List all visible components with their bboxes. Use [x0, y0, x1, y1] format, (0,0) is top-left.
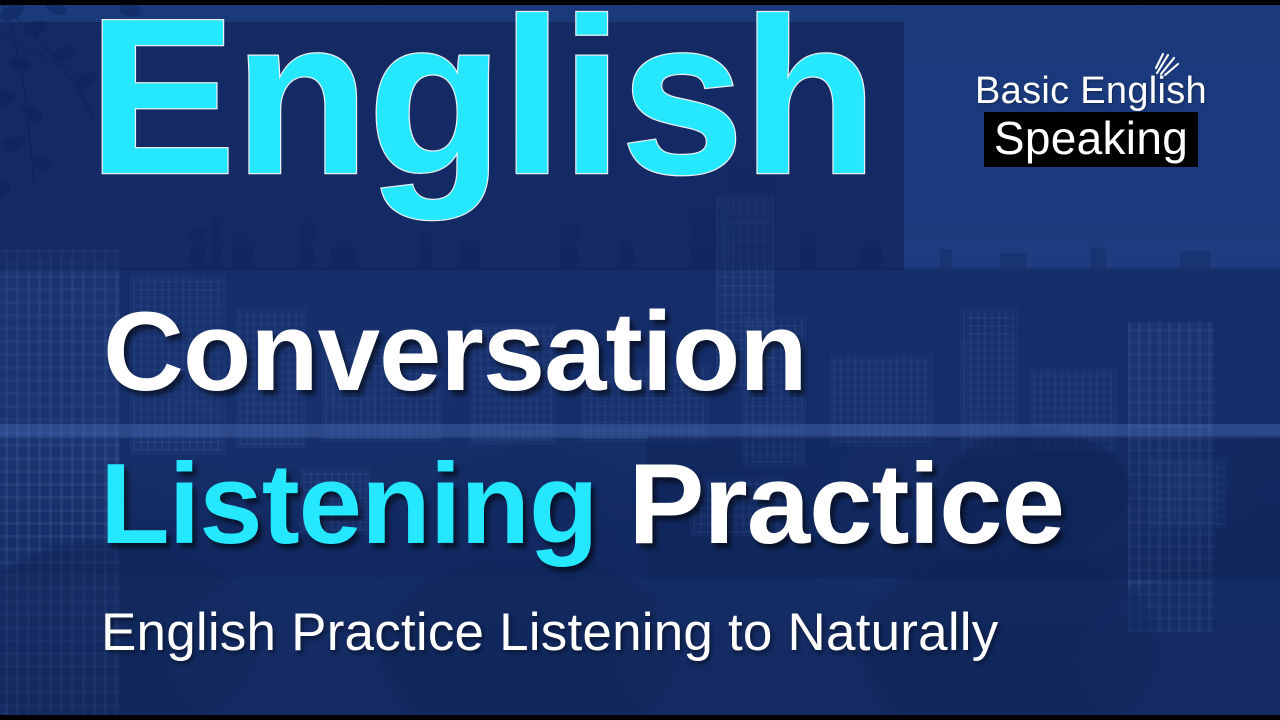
thumbnail-canvas: English Conversation Listening Practice … [0, 0, 1280, 720]
headline-word-listening: Listening [100, 441, 598, 568]
headline-word-practice: Practice [628, 441, 1064, 568]
brand-logo: Basic English Speaking [975, 72, 1207, 167]
letterbox-bar-bottom [0, 715, 1280, 720]
headline-line-conversation: Conversation [103, 296, 807, 408]
subtitle: English Practice Listening to Naturally [101, 606, 998, 659]
brand-logo-badge-wrap: Speaking [975, 112, 1207, 167]
hero-title: English [88, 0, 876, 208]
brand-logo-badge: Speaking [984, 112, 1198, 167]
text-layer: English Conversation Listening Practice … [0, 0, 1280, 720]
letterbox-bar-top [0, 0, 1280, 5]
headline-line-listening-practice: Listening Practice [100, 448, 1064, 562]
brand-logo-top-text: Basic English [975, 72, 1207, 112]
sparkle-burst-icon [1147, 52, 1181, 80]
